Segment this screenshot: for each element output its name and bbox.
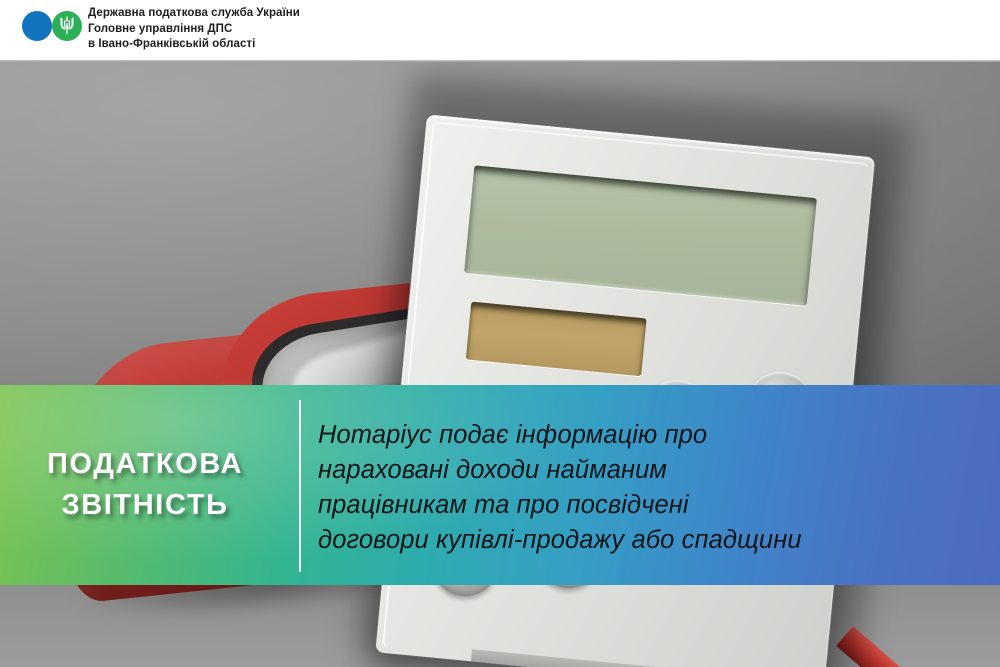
banner-headline-line-2: нараховані доходи найманим: [318, 453, 986, 488]
calculator-lcd-display: [464, 165, 817, 305]
banner-headline-text: Нотаріус подає інформацію про нараховані…: [318, 418, 986, 558]
banner-label-line-1: ПОДАТКОВА: [47, 450, 243, 479]
banner-headline-line-3: працівникам та про посвідчені: [318, 488, 986, 523]
banner-label-line-2: ЗВІТНІСТЬ: [61, 491, 228, 520]
site-header: Державна податкова служба України Головн…: [0, 0, 1000, 62]
ukrainian-trident-icon: [59, 16, 75, 36]
banner-category-label: ПОДАТКОВА ЗВІТНІСТЬ: [0, 385, 290, 585]
agency-title: Державна податкова служба України Головн…: [88, 6, 300, 53]
logo-blue-circle-icon: [22, 11, 52, 41]
banner-headline-line-1: Нотаріус подає інформацію про: [318, 418, 986, 453]
agency-title-line-2: Головне управління ДПС: [88, 22, 300, 38]
poster-page: Державна податкова служба України Головн…: [0, 0, 1000, 667]
agency-title-line-3: в Івано-Франківській області: [88, 37, 300, 53]
agency-title-line-1: Державна податкова служба України: [88, 6, 300, 22]
calculator-solar-panel: [466, 302, 647, 377]
banner-headline-line-4: договори купівлі-продажу або спадщини: [318, 523, 986, 558]
agency-logo: [22, 11, 80, 41]
calculator-bottom-edge: [470, 649, 843, 667]
banner-vertical-divider: [299, 400, 301, 572]
